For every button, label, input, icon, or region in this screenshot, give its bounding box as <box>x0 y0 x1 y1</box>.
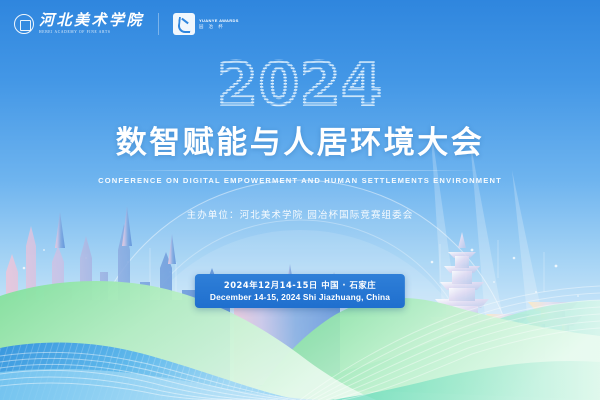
date-location-badge: 2024年12月14-15日 中国 · 石家庄 December 14-15, … <box>195 274 405 308</box>
year-2024-outline: 2024 <box>217 52 382 114</box>
logo-yuanye-text: YUANYE AWARDS 园 冶 杯 <box>199 19 239 29</box>
header-logo-bar: 河北美术学院 HEBEI ACADEMY OF FINE ARTS YUANYE… <box>0 0 600 48</box>
conference-title-cn: 数智赋能与人居环境大会 <box>0 126 600 161</box>
date-location-en: December 14-15, 2024 Shi Jiazhuang, Chin… <box>210 292 390 302</box>
circular-seal-icon <box>14 14 34 34</box>
logo-hebei-academy-text: 河北美术学院 HEBEI ACADEMY OF FINE ARTS <box>39 13 144 35</box>
logo-yuanye-name-cn: 园 冶 杯 <box>199 24 239 29</box>
conference-banner: 河北美术学院 HEBEI ACADEMY OF FINE ARTS YUANYE… <box>0 0 600 400</box>
conference-title-en: CONFERENCE ON DIGITAL EMPOWERMENT AND HU… <box>0 176 600 185</box>
date-location-cn: 2024年12月14-15日 中国 · 石家庄 <box>210 279 390 291</box>
year-heading: 2024 2024 <box>0 52 600 114</box>
title-block: 数智赋能与人居环境大会 CONFERENCE ON DIGITAL EMPOWE… <box>0 126 600 185</box>
header-divider <box>158 13 159 35</box>
title-divider-rule <box>119 170 481 171</box>
logo-hebei-academy-name-cn: 河北美术学院 <box>39 13 144 28</box>
logo-hebei-academy[interactable]: 河北美术学院 HEBEI ACADEMY OF FINE ARTS <box>14 13 144 35</box>
yuanye-award-mark-icon <box>173 13 195 35</box>
logo-yuanye-awards[interactable]: YUANYE AWARDS 园 冶 杯 <box>173 13 239 35</box>
year-2024-graphic: 2024 2024 <box>215 52 385 114</box>
logo-hebei-academy-name-en: HEBEI ACADEMY OF FINE ARTS <box>39 31 144 35</box>
organizer-line: 主办单位：河北美术学院 园冶杯国际竞赛组委会 <box>0 207 600 221</box>
